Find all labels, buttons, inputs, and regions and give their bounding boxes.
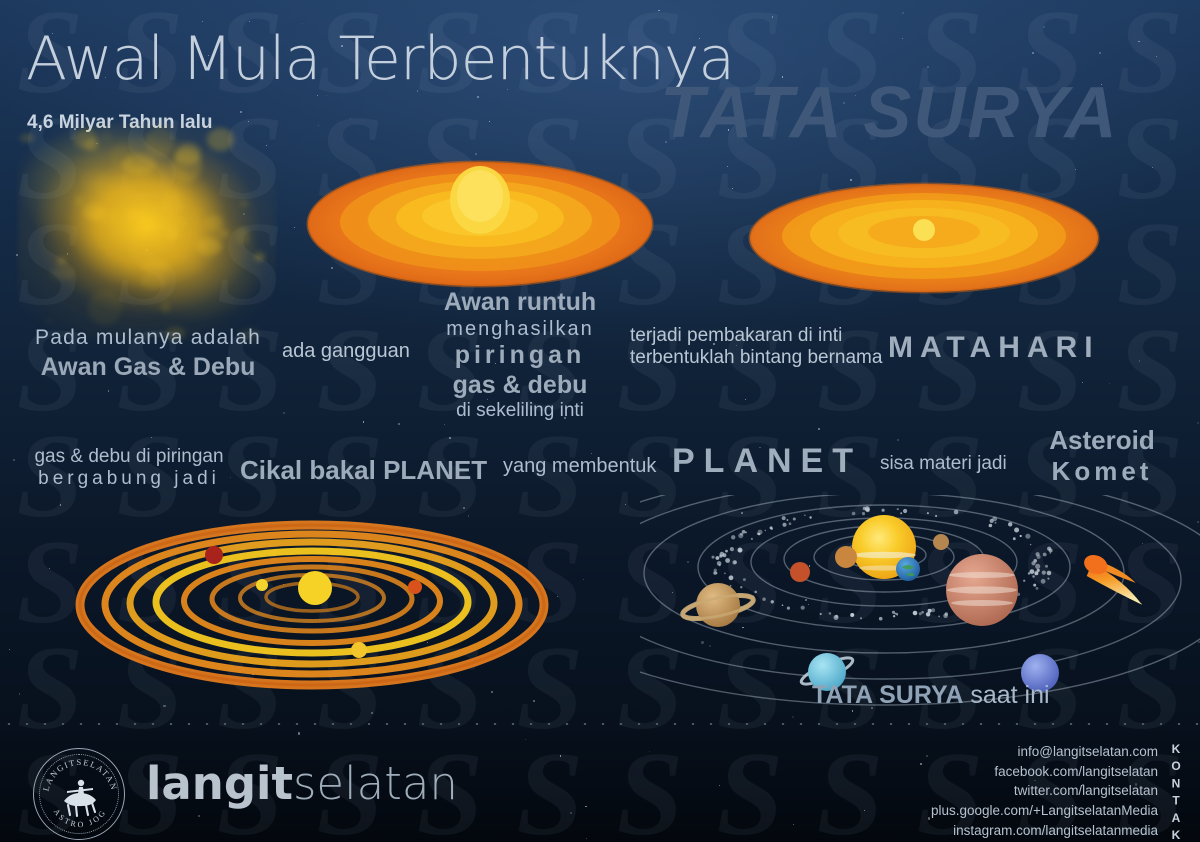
contact-item-4[interactable]: instagram.com/langitselatanmedia — [931, 821, 1158, 841]
asteroid — [1030, 569, 1035, 574]
star — [649, 751, 650, 752]
asteroid — [897, 508, 899, 510]
langitselatan-logo: LANGITSELATAN ASTRO JOG — [33, 748, 125, 840]
caption-collapse-line2: menghasilkan — [420, 318, 620, 342]
star — [719, 785, 721, 787]
big-title-tata-surya: TATA SURYA — [660, 72, 1119, 154]
label-asteroid-komet: Asteroid Komet — [1022, 425, 1182, 486]
star — [163, 705, 165, 707]
asteroid — [935, 515, 937, 517]
planetesimal-red — [205, 546, 223, 564]
star — [230, 477, 231, 478]
star — [449, 437, 451, 439]
star — [1075, 169, 1077, 171]
mars — [790, 562, 810, 582]
asteroid — [782, 516, 786, 520]
asteroid — [866, 509, 869, 512]
star — [525, 739, 526, 740]
asteroid — [804, 514, 806, 516]
star — [585, 806, 586, 807]
kontak-label: KONTAK — [1169, 742, 1183, 842]
planetesimal-orange — [408, 580, 422, 594]
collapse-disk-svg — [305, 136, 655, 296]
star — [586, 838, 587, 839]
caption-disturbance: ada gangguan — [282, 340, 410, 364]
label-asteroid: Asteroid — [1022, 425, 1182, 456]
asteroid — [1047, 571, 1052, 576]
nebula-speck — [81, 170, 107, 189]
asteroid — [893, 615, 895, 617]
asteroid — [1047, 547, 1051, 551]
planetesimal-inner — [256, 579, 268, 591]
asteroid — [938, 616, 940, 618]
caption-collapse-line5: di sekeliling inti — [420, 400, 620, 422]
watermark-s: S — [800, 742, 900, 842]
asteroid — [1014, 528, 1019, 533]
star — [1152, 167, 1153, 168]
caption-merge: gas & debu di piringan bergabung jadi — [34, 446, 224, 491]
nebula-speck — [88, 290, 122, 325]
caption-gas-dust-cloud: Pada mulanya adalah Awan Gas & Debu — [28, 326, 268, 382]
asteroid — [945, 612, 948, 615]
asteroid — [782, 604, 784, 606]
asteroid — [852, 512, 856, 516]
jupiter — [946, 554, 1018, 626]
asteroid — [1037, 555, 1041, 559]
asteroid — [719, 564, 721, 566]
caption-present-light: saat ini — [970, 681, 1049, 709]
star — [489, 121, 490, 122]
asteroid — [860, 617, 862, 619]
asteroid — [712, 556, 715, 559]
asteroid — [742, 530, 746, 534]
asteroid — [927, 512, 929, 514]
star — [363, 421, 364, 422]
caption-cloud-line2: Awan Gas & Debu — [28, 353, 268, 383]
star — [852, 710, 854, 712]
asteroid — [1013, 537, 1016, 540]
caption-core-burning: terjadi pembakaran di inti terbentuklah … — [630, 325, 882, 370]
asteroid — [1031, 561, 1035, 565]
footer-divider — [0, 723, 1200, 725]
caption-collapse-line4: gas & debu — [420, 371, 620, 401]
asteroid — [762, 598, 765, 601]
nebula-speck — [20, 134, 34, 143]
star — [926, 755, 928, 757]
asteroid — [724, 573, 726, 575]
asteroid — [1033, 584, 1036, 587]
nebula-speck — [205, 215, 224, 231]
star — [1043, 26, 1045, 28]
venus — [835, 546, 857, 568]
protostar-disk-svg — [748, 176, 1100, 296]
comet — [1077, 552, 1153, 605]
star — [49, 568, 51, 570]
asteroid — [990, 519, 994, 523]
asteroid — [765, 530, 767, 532]
star — [60, 504, 61, 505]
asteroid — [743, 578, 746, 581]
contact-item-0[interactable]: info@langitselatan.com — [931, 742, 1158, 762]
star — [772, 16, 774, 18]
asteroid — [730, 547, 734, 551]
asteroid — [730, 585, 732, 587]
watermark-s: S — [600, 742, 700, 842]
caption-collapse-line3: piringan — [420, 341, 620, 371]
star — [658, 10, 660, 12]
star — [108, 390, 110, 392]
asteroid — [1050, 552, 1051, 553]
nebula-speck — [207, 128, 233, 151]
caption-cloud-line1: Pada mulanya adalah — [28, 326, 268, 351]
nebula-speck — [74, 197, 83, 206]
watermark-s: S — [500, 742, 600, 842]
nebula-speck — [218, 229, 230, 237]
caption-collapse-line1: Awan runtuh — [420, 288, 620, 318]
asteroid — [1045, 565, 1048, 568]
asteroid — [722, 553, 726, 557]
asteroid — [989, 524, 993, 528]
nebula-speck — [110, 144, 134, 168]
asteroid — [995, 522, 997, 524]
asteroid — [1047, 578, 1049, 580]
asteroid — [954, 510, 959, 515]
star — [198, 815, 200, 817]
star — [294, 227, 295, 228]
watermark-s: S — [1100, 318, 1200, 424]
star — [557, 596, 558, 597]
caption-which-forms: yang membentuk — [503, 455, 656, 479]
caption-leftover: sisa materi jadi — [880, 453, 1007, 475]
asteroid — [928, 609, 932, 613]
caption-burning-line2: terbentuklah bintang bernama — [630, 347, 882, 369]
caption-merge-line1: gas & debu di piringan — [34, 446, 224, 468]
star — [570, 812, 572, 814]
collapsing-cloud-disk-illustration — [305, 136, 655, 296]
asteroid — [783, 523, 787, 527]
star — [202, 21, 203, 22]
caption-collapse: Awan runtuh menghasilkan piringan gas & … — [420, 288, 620, 423]
caption-merge-line2: bergabung jadi — [34, 468, 224, 490]
brand-wordmark: langitselatan — [146, 761, 458, 806]
star — [1032, 52, 1034, 54]
star — [444, 424, 445, 425]
star — [745, 399, 746, 400]
asteroid — [758, 530, 763, 535]
logo-inner-ring — [39, 754, 119, 834]
star — [583, 579, 584, 580]
nebula-speck — [84, 139, 99, 150]
saturn — [681, 583, 755, 627]
caption-protoplanet: Cikal bakal PLANET — [240, 455, 487, 486]
asteroid — [729, 575, 734, 580]
contact-item-3[interactable]: plus.google.com/+LangitselatanMedia — [931, 801, 1158, 821]
protosun — [298, 571, 332, 605]
asteroid — [919, 612, 922, 615]
brand-selatan: selatan — [293, 757, 458, 810]
asteroid — [716, 556, 720, 560]
nebula-speck — [161, 303, 169, 312]
asteroid — [719, 555, 722, 558]
watermark-s: S — [700, 742, 800, 842]
asteroid — [926, 612, 930, 616]
asteroid — [754, 591, 757, 594]
asteroid — [879, 617, 883, 621]
star — [902, 12, 904, 14]
star — [371, 712, 373, 714]
poster-canvas: SSSSSSSSSSSSSSSSSSSSSSSSSSSSSSSSSSSSSSSS… — [0, 0, 1200, 842]
asteroid — [882, 509, 885, 512]
star — [560, 755, 561, 756]
asteroid — [731, 535, 735, 539]
planetesimal-yellow — [351, 642, 367, 658]
star — [317, 95, 319, 97]
asteroid — [851, 613, 854, 616]
label-matahari: MATAHARI — [888, 330, 1100, 365]
asteroid — [1032, 575, 1035, 578]
forming-system-svg — [75, 510, 550, 695]
asteroid — [787, 607, 790, 610]
asteroid — [801, 606, 805, 610]
asteroid — [1036, 587, 1039, 590]
asteroid — [921, 611, 924, 614]
label-planet: PLANET — [672, 441, 862, 481]
nebula-speck — [161, 190, 182, 213]
protostar-disk-illustration — [748, 176, 1100, 296]
nebula-speck — [140, 273, 167, 290]
nebula-speck — [83, 204, 104, 221]
asteroid — [834, 615, 839, 620]
star — [864, 810, 865, 811]
asteroid — [751, 538, 753, 540]
asteroid — [1020, 535, 1022, 537]
asteroid — [903, 509, 907, 513]
asteroid — [770, 526, 773, 529]
star — [920, 763, 922, 765]
asteroid — [1030, 544, 1031, 545]
asteroid — [740, 586, 742, 588]
solar-system-svg — [640, 495, 1200, 710]
star — [927, 66, 929, 68]
asteroid — [1035, 564, 1040, 569]
star — [477, 96, 479, 98]
asteroid — [1023, 580, 1025, 582]
asteroid — [820, 613, 822, 615]
contact-list: info@langitselatan.comfacebook.com/langi… — [931, 742, 1158, 841]
star — [283, 412, 285, 414]
star — [326, 95, 327, 96]
caption-burning-line1: terjadi pembakaran di inti — [630, 325, 882, 347]
star — [240, 111, 242, 113]
asteroid — [793, 518, 796, 521]
asteroid — [862, 512, 865, 515]
contact-item-2[interactable]: twitter.com/langitselatan — [931, 781, 1158, 801]
star — [533, 700, 535, 702]
star — [1138, 41, 1139, 42]
nebula-speck — [196, 238, 222, 255]
asteroid — [740, 533, 743, 536]
asteroid — [1008, 522, 1012, 526]
star — [298, 732, 300, 734]
star — [1139, 360, 1141, 362]
star — [1109, 383, 1110, 384]
watermark-s: S — [300, 318, 400, 424]
star — [249, 21, 250, 22]
present-solar-system-illustration — [640, 495, 1200, 710]
star — [13, 459, 15, 461]
nebula-speck — [125, 209, 148, 221]
watermark-s: S — [1100, 212, 1200, 318]
brand-langit: langit — [146, 757, 293, 810]
star — [19, 693, 20, 694]
star — [350, 118, 351, 119]
forming-planetary-system-illustration — [75, 510, 550, 695]
star — [151, 437, 152, 438]
asteroid — [931, 608, 935, 612]
star — [1156, 56, 1157, 57]
caption-present-solar-system: TATA SURYA saat ini — [812, 681, 1050, 710]
star — [727, 166, 728, 167]
asteroid — [1041, 579, 1046, 584]
asteroid — [725, 550, 728, 553]
nebula-speck — [50, 267, 74, 280]
asteroid — [787, 519, 789, 521]
asteroid — [1025, 534, 1030, 539]
star — [1082, 382, 1083, 383]
asteroid — [789, 522, 792, 525]
asteroid — [1042, 571, 1046, 575]
star — [818, 428, 820, 430]
asteroid — [900, 512, 902, 514]
star — [625, 504, 626, 505]
asteroid — [913, 611, 918, 616]
star — [463, 507, 465, 509]
asteroid — [809, 516, 811, 518]
star — [902, 38, 903, 39]
star — [732, 188, 733, 189]
asteroid — [1043, 553, 1047, 557]
label-komet: Komet — [1022, 456, 1182, 487]
asteroid — [1037, 569, 1040, 572]
asteroid — [733, 560, 737, 564]
page-title: Awal Mula Terbentuknya — [26, 24, 734, 94]
star — [897, 439, 899, 441]
nebula-speck — [235, 227, 250, 243]
asteroid — [771, 600, 774, 603]
asteroid — [713, 571, 717, 575]
asteroid — [829, 612, 832, 615]
caption-present-bold: TATA SURYA — [812, 681, 963, 709]
star — [792, 716, 794, 718]
asteroid — [725, 558, 730, 563]
star — [1197, 422, 1199, 424]
star — [793, 824, 794, 825]
star — [398, 423, 400, 425]
asteroid — [894, 613, 896, 615]
nebula-speck — [254, 253, 265, 261]
mercury — [933, 534, 949, 550]
contact-item-1[interactable]: facebook.com/langitselatan — [931, 762, 1158, 782]
star — [9, 649, 10, 650]
asteroid — [738, 548, 743, 553]
star — [1099, 52, 1101, 54]
nebula-speck — [57, 257, 66, 265]
star — [318, 125, 319, 126]
nebula-speck — [141, 260, 169, 274]
